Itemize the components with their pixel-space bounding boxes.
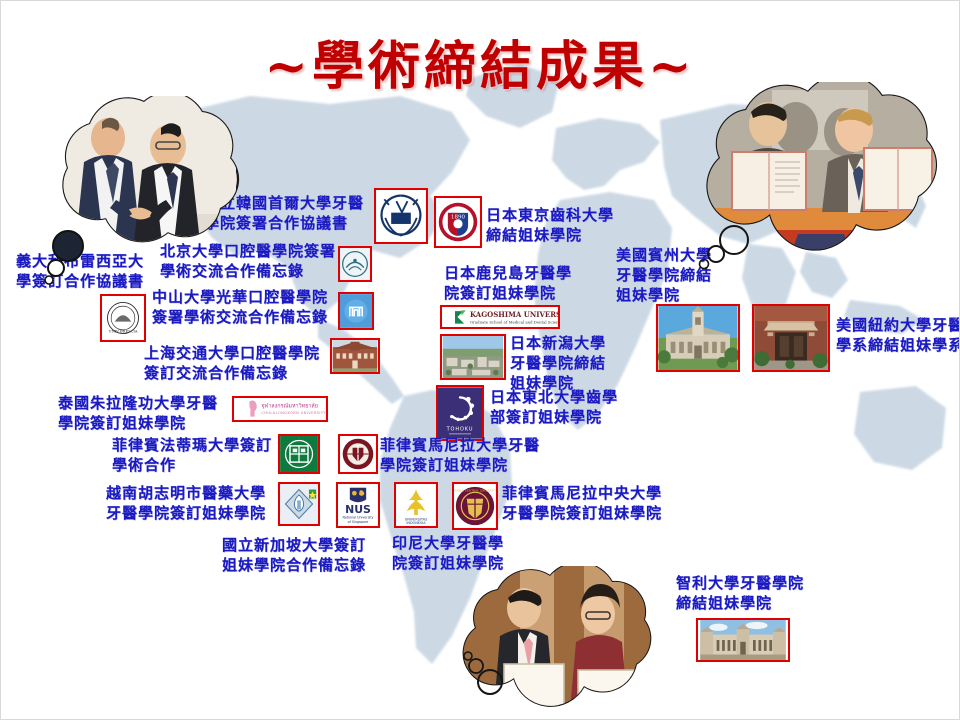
caption-niigata: 日本新潟大學 牙醫學院締結 姐妹學院 xyxy=(510,334,618,393)
caption-nus: 國立新加坡大學簽訂 姐妹學院合作備忘錄 xyxy=(222,536,398,576)
thumb-ui-logo[interactable]: UNIVERSITAS INDONESIA xyxy=(394,482,438,528)
svg-text:KAGOSHIMA UNIVERSITY: KAGOSHIMA UNIVERSITY xyxy=(470,310,558,319)
svg-text:National University: National University xyxy=(342,516,373,520)
thumb-niigata-campus[interactable] xyxy=(440,334,506,380)
thumb-nyu-building[interactable] xyxy=(752,304,830,372)
thumb-mcu-crest[interactable]: MANILA CENTRAL UNIVERSITY xyxy=(452,482,498,530)
svg-text:of Singapore: of Singapore xyxy=(348,520,369,524)
bubble-asia-signing xyxy=(446,566,672,720)
svg-text:Graduate School of Medical and: Graduate School of Medical and Dental Sc… xyxy=(470,320,558,325)
page-title: ~學術締結成果~ xyxy=(0,24,960,99)
svg-text:INDONESIA: INDONESIA xyxy=(406,521,426,525)
bubble-italy-signing xyxy=(16,96,256,296)
thumb-nus-logo[interactable]: NUS National University of Singapore xyxy=(336,482,380,528)
svg-text:NUS: NUS xyxy=(345,503,371,516)
caption-nyu: 美國紐約大學牙醫 學系締結姐妹學系 xyxy=(836,316,960,356)
caption-hcmc: 越南胡志明市醫藥大學 牙醫學院簽訂姐妹學院 xyxy=(106,484,286,524)
svg-text:TOHOKU: TOHOKU xyxy=(446,426,474,432)
caption-manila: 菲律賓馬尼拉大學牙醫 學院簽訂姐妹學院 xyxy=(380,436,552,476)
svg-text:UNIV BRESCIA: UNIV BRESCIA xyxy=(109,330,138,334)
thumb-italy-seal[interactable]: UNIV BRESCIA xyxy=(100,294,146,342)
thumb-sjtu-building[interactable] xyxy=(330,338,380,374)
caption-chile: 智利大學牙醫學院 締結姐妹學院 xyxy=(676,574,836,614)
thumb-seoul-crest[interactable] xyxy=(374,188,428,244)
svg-text:จุฬาลงกรณ์มหาวิทยาลัย: จุฬาลงกรณ์มหาวิทยาลัย xyxy=(261,402,318,409)
thumb-manila-crest[interactable] xyxy=(338,434,378,474)
thumb-kagoshima-logo[interactable]: KAGOSHIMA UNIVERSITY Graduate School of … xyxy=(440,305,560,329)
caption-kagoshima: 日本鹿兒島牙醫學 院簽訂姐妹學院 xyxy=(444,264,586,304)
svg-text:MANILA CENTRAL UNIVERSITY: MANILA CENTRAL UNIVERSITY xyxy=(454,488,496,492)
caption-tokyo-dental: 日本東京齒科大學 締結姐妹學院 xyxy=(486,206,622,246)
svg-text:CHULALONGKORN UNIVERSITY: CHULALONGKORN UNIVERSITY xyxy=(261,411,326,415)
caption-shanghai: 上海交通大學口腔醫學院 簽訂交流合作備忘錄 xyxy=(144,344,328,384)
slide-canvas: ~學術締結成果~ xyxy=(0,0,960,720)
caption-fatima: 菲律賓法蒂瑪大學簽訂 學術合作 xyxy=(112,436,284,476)
thumb-peking-crest[interactable] xyxy=(338,246,372,282)
caption-chula: 泰國朱拉隆功大學牙醫 學院簽訂姐妹學院 xyxy=(58,394,242,434)
thumb-tokyo-dental-crest[interactable]: 1890 xyxy=(434,196,482,248)
thumb-tohoku-logo[interactable]: TOHOKU xyxy=(436,385,484,441)
thumb-sysu-crest[interactable] xyxy=(338,292,374,330)
thumb-chile-building[interactable] xyxy=(696,618,790,662)
thumb-pennstate-oldmain[interactable] xyxy=(656,304,740,372)
caption-manila-central: 菲律賓馬尼拉中央大學 牙醫學院簽訂姐妹學院 xyxy=(502,484,682,524)
caption-tohoku: 日本東北大學齒學 部簽訂姐妹學院 xyxy=(490,388,620,428)
thumb-chula-logo[interactable]: จุฬาลงกรณ์มหาวิทยาลัย CHULALONGKORN UNIV… xyxy=(232,396,328,422)
bubble-usa-signing xyxy=(676,82,960,278)
thumb-fatima-crest[interactable] xyxy=(278,434,320,474)
